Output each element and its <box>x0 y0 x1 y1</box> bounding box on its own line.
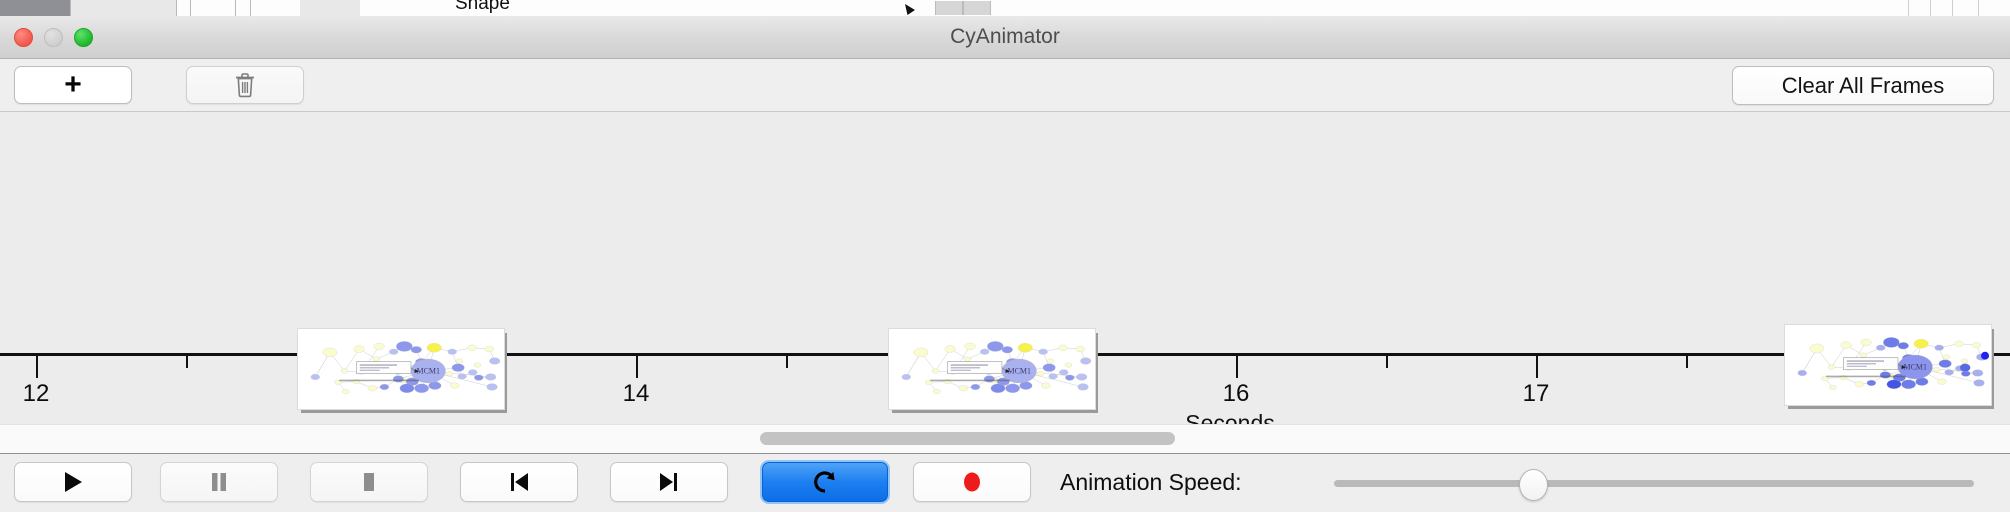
frame-toolbar: + Clear All Frames <box>0 59 2010 112</box>
timeline-minor-tick <box>786 356 788 368</box>
add-frame-button[interactable]: + <box>14 66 132 104</box>
plus-icon: + <box>64 70 82 100</box>
frame-thumbnail[interactable]: MCM1 <box>888 328 1096 410</box>
window-title: CyAnimator <box>0 16 2010 58</box>
record-icon <box>959 469 985 495</box>
background-partial-label: Shape <box>455 0 510 15</box>
playback-controls-bar: Animation Speed: <box>0 454 2010 512</box>
scrollbar-track[interactable] <box>0 425 2010 451</box>
play-button[interactable] <box>14 462 132 502</box>
timeline-minor-tick <box>186 356 188 368</box>
timeline-scrollbar[interactable] <box>0 424 2010 454</box>
animation-speed-slider[interactable] <box>1334 480 1974 487</box>
animation-speed-slider-thumb[interactable] <box>1519 469 1548 501</box>
loop-button[interactable] <box>762 462 888 502</box>
background-grip <box>963 1 991 15</box>
animation-speed-label: Animation Speed: <box>1060 462 1242 502</box>
cyanimator-window: CyAnimator + Clear All Frames <box>0 16 2010 510</box>
clear-all-frames-label: Clear All Frames <box>1782 73 1945 99</box>
svg-text:MCM1: MCM1 <box>1008 367 1031 376</box>
timeline-tick-label: 16 <box>1223 380 1250 408</box>
record-button[interactable] <box>913 462 1031 502</box>
timeline-minor-tick <box>1686 356 1688 368</box>
timeline-major-tick <box>36 356 38 378</box>
frame-thumbnail[interactable]: MCM1 <box>297 328 505 410</box>
background-right-lines <box>1900 0 2010 16</box>
bg-divider <box>235 0 236 16</box>
timeline-major-tick <box>636 356 638 378</box>
timeline-minor-tick <box>1386 356 1388 368</box>
skip-end-button[interactable] <box>610 462 728 502</box>
svg-text:MCM1: MCM1 <box>417 367 440 376</box>
background-cursor-arrow-icon <box>905 4 915 15</box>
pause-button <box>160 462 278 502</box>
loop-icon <box>812 469 838 495</box>
bg-block <box>71 0 176 16</box>
trash-icon <box>234 72 256 98</box>
pause-icon <box>208 470 230 494</box>
timeline-panel[interactable]: 12131415161718SecondsMCM1MCM1MCM1 <box>0 112 2010 424</box>
scrollbar-thumb[interactable] <box>760 432 1175 445</box>
background-grip <box>935 1 963 15</box>
screen: Shape CyAnimator + <box>0 0 2010 510</box>
timeline-major-tick <box>1236 356 1238 378</box>
bg-block <box>300 0 360 16</box>
svg-text:MCM1: MCM1 <box>1904 363 1927 372</box>
window-titlebar[interactable]: CyAnimator <box>0 16 2010 59</box>
timeline-tick-label: 14 <box>623 380 650 408</box>
bg-divider <box>190 0 191 16</box>
stop-button <box>310 462 428 502</box>
timeline-axis-title: Seconds <box>1185 410 1275 424</box>
skip-backward-icon <box>507 470 531 494</box>
bg-divider <box>250 0 251 16</box>
bg-divider <box>176 0 177 16</box>
skip-start-button[interactable] <box>460 462 578 502</box>
stop-icon <box>358 470 380 494</box>
clear-all-frames-button[interactable]: Clear All Frames <box>1732 66 1994 105</box>
delete-frame-button[interactable] <box>186 66 304 104</box>
play-icon <box>62 470 84 494</box>
skip-forward-icon <box>657 470 681 494</box>
frame-thumbnail[interactable]: MCM1 <box>1784 324 1992 406</box>
background-window-strip: Shape <box>0 0 2010 16</box>
background-dark-tab <box>0 0 70 16</box>
timeline-tick-label: 17 <box>1523 380 1550 408</box>
timeline-tick-label: 12 <box>23 380 50 408</box>
timeline-major-tick <box>1536 356 1538 378</box>
